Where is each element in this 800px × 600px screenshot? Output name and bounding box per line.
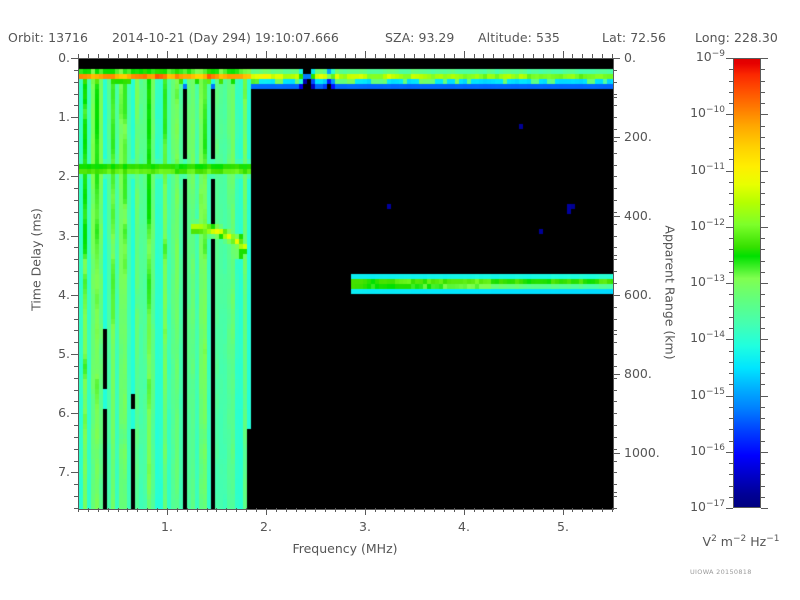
x-tick-minor-top [444,54,445,58]
x-tick-label: 3. [354,519,376,534]
colorbar-tick-minor [761,294,765,295]
y-tick-major-left [71,472,78,473]
header-item-value: 228.30 [734,30,778,45]
colorbar-tick-major [726,227,733,228]
x-tick-label: 2. [255,519,277,534]
y-tick-minor-right-side [613,105,617,106]
x-tick-minor-top [483,54,484,58]
header-item-1: 2014-10-21 (Day 294) 19:10:07.666 [112,30,339,45]
x-tick-minor [296,508,297,512]
y-tick-minor-right-side [613,247,617,248]
y-tick-minor-left [74,437,78,438]
x-tick-minor [385,508,386,512]
x-tick-major [563,508,564,515]
colorbar-tick-minor [761,373,765,374]
y-tick-minor-left [74,224,78,225]
y-tick-label-left: 1. [32,109,70,124]
colorbar-tick-major [726,58,733,59]
colorbar-tick-minor [729,137,733,138]
y-tick-minor-right-side [613,141,617,142]
x-tick-minor [592,508,593,512]
x-tick-minor-top [305,54,306,58]
y-tick-major-left [71,354,78,355]
y-tick-label-right: 0. [624,50,636,65]
y-tick-major-right [613,216,620,217]
y-tick-minor-right-side [613,390,617,391]
x-tick-minor [305,508,306,512]
colorbar-tick-minor [729,497,733,498]
colorbar-tick-minor [761,69,765,70]
y-tick-minor-left [74,200,78,201]
x-tick-minor-top [434,54,435,58]
ionogram-heatmap-canvas [79,59,613,509]
colorbar-tick-minor [729,373,733,374]
x-tick-major-top [464,51,465,58]
y-tick-minor-right-side [613,461,617,462]
colorbar-tick-label: 10−13 [655,274,725,289]
y-tick-minor-right-side [613,165,617,166]
header-item-label: Lat: [602,30,630,45]
x-tick-minor [276,508,277,512]
header-item-value: 2014-10-21 (Day 294) 19:10:07.666 [112,30,339,45]
y-tick-minor-right-side [613,319,617,320]
x-tick-minor [108,508,109,512]
y-tick-major-left [71,176,78,177]
x-tick-minor [434,508,435,512]
y-tick-minor-right [613,334,617,335]
colorbar-tick-major [726,452,733,453]
x-tick-minor-top [108,54,109,58]
y-tick-minor-left [74,319,78,320]
colorbar-tick-minor [729,182,733,183]
colorbar-tick-label: 10−16 [655,443,725,458]
colorbar-tick-minor [761,272,765,273]
x-tick-minor-top [602,54,603,58]
y-tick-minor-left [74,153,78,154]
x-tick-minor-top [157,54,158,58]
x-tick-minor [493,508,494,512]
y-tick-minor-right-side [613,212,617,213]
x-tick-minor [444,508,445,512]
x-tick-minor [572,508,573,512]
colorbar-tick-minor [729,103,733,104]
x-tick-major-top [365,51,366,58]
x-tick-major-top [266,51,267,58]
y-tick-minor-left [74,259,78,260]
x-tick-minor-top [256,54,257,58]
y-tick-major-left [71,58,78,59]
x-tick-minor-top [286,54,287,58]
y-tick-minor-left [74,449,78,450]
colorbar-tick-minor [761,317,765,318]
colorbar-tick-minor [761,193,765,194]
y-axis-title-left: Time Delay (ms) [29,200,44,320]
colorbar-tick-minor [729,81,733,82]
colorbar-tick-minor [761,407,765,408]
colorbar-tick-minor [761,351,765,352]
y-tick-major-right [613,58,620,59]
colorbar-tick-minor [729,384,733,385]
y-tick-label-right: 600. [624,287,652,302]
y-tick-major-left [71,413,78,414]
x-tick-minor [256,508,257,512]
x-tick-minor [375,508,376,512]
x-tick-minor-top [118,54,119,58]
x-tick-minor [503,508,504,512]
colorbar-tick-minor [729,407,733,408]
y-tick-minor-left [74,247,78,248]
x-tick-minor-top [493,54,494,58]
x-tick-minor-top [375,54,376,58]
x-tick-minor-top [88,54,89,58]
colorbar-tick-minor [729,204,733,205]
y-tick-minor-right-side [613,342,617,343]
y-tick-minor-right-side [613,307,617,308]
colorbar-tick-minor [729,328,733,329]
x-tick-minor [216,508,217,512]
y-tick-label-left: 7. [32,464,70,479]
x-tick-major [365,508,366,515]
header-item-value: 13716 [48,30,88,45]
header-item-label: Long: [695,30,734,45]
x-tick-minor [394,508,395,512]
y-tick-major-left [71,295,78,296]
y-tick-major-right [613,295,620,296]
x-tick-minor-top [236,54,237,58]
colorbar-tick-minor [729,418,733,419]
colorbar-tick-major [761,283,768,284]
x-tick-minor [424,508,425,512]
colorbar-tick-minor [729,272,733,273]
y-tick-minor-left [74,330,78,331]
colorbar-tick-major [761,227,768,228]
colorbar-tick-minor [729,294,733,295]
colorbar-tick-major [726,339,733,340]
colorbar-tick-major [726,508,733,509]
y-tick-minor-left [74,508,78,509]
x-tick-minor-top [592,54,593,58]
header-item-value: 72.56 [630,30,666,45]
x-tick-minor [98,508,99,512]
colorbar-tick-minor [729,362,733,363]
y-tick-minor-left [74,342,78,343]
colorbar-tick-minor [761,418,765,419]
x-tick-minor-top [177,54,178,58]
y-tick-minor-right-side [613,188,617,189]
x-tick-minor [286,508,287,512]
colorbar-tick-minor [729,148,733,149]
x-tick-minor-top [147,54,148,58]
y-tick-minor-left [74,188,78,189]
y-tick-minor-right [613,97,617,98]
y-tick-minor-right-side [613,82,617,83]
colorbar-tick-minor [761,182,765,183]
colorbar-tick-minor [729,429,733,430]
x-tick-minor [454,508,455,512]
x-tick-minor-top [533,54,534,58]
x-tick-minor [553,508,554,512]
y-tick-minor-right [613,176,617,177]
colorbar-tick-minor [761,148,765,149]
x-tick-minor [207,508,208,512]
y-tick-minor-right-side [613,437,617,438]
y-tick-minor-left [74,484,78,485]
y-tick-minor-right-side [613,496,617,497]
x-tick-minor [246,508,247,512]
y-tick-minor-left [74,82,78,83]
y-tick-minor-right-side [613,449,617,450]
colorbar-tick-major [761,171,768,172]
colorbar-tick-label: 10−17 [655,499,725,514]
x-tick-minor-top [414,54,415,58]
y-tick-major-right [613,374,620,375]
header-info-bar: Orbit: 137162014-10-21 (Day 294) 19:10:0… [0,30,800,48]
colorbar-tick-minor [761,204,765,205]
x-tick-major-top [563,51,564,58]
colorbar [733,58,761,508]
colorbar-tick-minor [761,429,765,430]
x-tick-minor [137,508,138,512]
colorbar-tick-minor [761,216,765,217]
x-tick-minor [236,508,237,512]
y-tick-minor-right [613,413,617,414]
y-tick-minor-left [74,165,78,166]
x-tick-minor [315,508,316,512]
x-tick-minor-top [246,54,247,58]
y-tick-minor-left [74,496,78,497]
y-tick-minor-left [74,307,78,308]
header-item-5: Long: 228.30 [695,30,778,45]
header-item-label: Orbit: [8,30,48,45]
x-tick-minor [118,508,119,512]
colorbar-tick-minor [761,81,765,82]
y-tick-minor-right-side [613,484,617,485]
y-tick-minor-left [74,401,78,402]
colorbar-tick-minor [729,441,733,442]
x-tick-minor [325,508,326,512]
x-tick-minor-top [98,54,99,58]
x-tick-minor-top [127,54,128,58]
y-tick-minor-left [74,94,78,95]
colorbar-tick-label: 10−9 [655,49,725,64]
colorbar-tick-minor [761,328,765,329]
colorbar-tick-minor [761,249,765,250]
colorbar-tick-minor [761,486,765,487]
colorbar-tick-minor [729,261,733,262]
x-tick-minor-top [582,54,583,58]
spectrogram-plot-area [78,58,614,510]
y-tick-minor-left [74,366,78,367]
colorbar-tick-minor [729,463,733,464]
y-tick-minor-right-side [613,508,617,509]
y-tick-minor-left [74,212,78,213]
colorbar-tick-major [761,58,768,59]
x-tick-label: 1. [156,519,178,534]
x-tick-minor-top [197,54,198,58]
colorbar-tick-minor [761,103,765,104]
x-tick-minor [582,508,583,512]
y-tick-label-left: 2. [32,168,70,183]
y-tick-label-left: 5. [32,346,70,361]
x-tick-minor [474,508,475,512]
y-tick-minor-right-side [613,117,617,118]
colorbar-tick-major [726,283,733,284]
colorbar-tick-major [726,396,733,397]
colorbar-gradient [733,58,761,508]
colorbar-tick-minor [729,474,733,475]
y-tick-minor-right-side [613,129,617,130]
colorbar-tick-major [761,339,768,340]
y-tick-minor-right-side [613,200,617,201]
x-tick-minor-top [137,54,138,58]
colorbar-tick-label: 10−10 [655,105,725,120]
colorbar-tick-minor [729,486,733,487]
x-tick-major [167,508,168,515]
colorbar-tick-major [726,171,733,172]
x-tick-minor-top [572,54,573,58]
colorbar-tick-label: 10−14 [655,330,725,345]
x-tick-minor-top [296,54,297,58]
colorbar-tick-major [761,396,768,397]
colorbar-tick-minor [761,137,765,138]
x-tick-minor-top [355,54,356,58]
x-tick-minor-top [226,54,227,58]
x-tick-minor-top [325,54,326,58]
y-tick-minor-left [74,271,78,272]
colorbar-tick-minor [729,92,733,93]
colorbar-tick-major [726,114,733,115]
x-tick-minor-top [543,54,544,58]
colorbar-tick-minor [729,249,733,250]
header-item-4: Lat: 72.56 [602,30,666,45]
x-tick-minor [355,508,356,512]
y-tick-label-right: 800. [624,366,652,381]
y-tick-major-right [613,137,620,138]
y-tick-minor-left [74,129,78,130]
x-tick-minor [602,508,603,512]
y-tick-minor-right [613,492,617,493]
x-tick-minor [78,508,79,512]
x-tick-minor-top [404,54,405,58]
y-tick-major-left [71,236,78,237]
y-tick-minor-right-side [613,425,617,426]
colorbar-tick-minor [761,238,765,239]
credit-text: UIOWA 20150818 [690,568,752,576]
y-tick-label-left: 6. [32,405,70,420]
colorbar-tick-minor [761,441,765,442]
y-tick-minor-right-side [613,259,617,260]
x-tick-minor-top [454,54,455,58]
colorbar-tick-minor [761,306,765,307]
x-tick-minor [197,508,198,512]
x-tick-minor [127,508,128,512]
colorbar-tick-minor [761,463,765,464]
header-item-label: Altitude: [478,30,536,45]
x-tick-minor [177,508,178,512]
y-tick-minor-right-side [613,366,617,367]
colorbar-tick-minor [729,69,733,70]
y-tick-minor-left [74,461,78,462]
colorbar-tick-minor [729,126,733,127]
x-tick-minor-top [513,54,514,58]
y-tick-minor-right-side [613,224,617,225]
x-tick-minor-top [523,54,524,58]
y-tick-label-right: 400. [624,208,652,223]
colorbar-tick-minor [761,92,765,93]
x-tick-minor [187,508,188,512]
x-tick-major-top [167,51,168,58]
colorbar-tick-minor [761,384,765,385]
y-tick-minor-right-side [613,94,617,95]
x-tick-minor-top [345,54,346,58]
colorbar-tick-minor [729,193,733,194]
colorbar-tick-minor [729,351,733,352]
colorbar-tick-minor [729,306,733,307]
x-axis-title: Frequency (MHz) [78,541,612,556]
header-item-3: Altitude: 535 [478,30,560,45]
colorbar-tick-minor [761,474,765,475]
x-tick-minor-top [207,54,208,58]
colorbar-unit-label: V2 m−2 Hz−1 [686,534,796,549]
x-tick-minor [533,508,534,512]
colorbar-tick-label: 10−12 [655,218,725,233]
x-tick-minor-top [315,54,316,58]
colorbar-tick-minor [761,126,765,127]
y-tick-minor-left [74,425,78,426]
y-tick-major-left [71,117,78,118]
y-tick-major-right [613,453,620,454]
x-tick-minor [404,508,405,512]
x-tick-minor [513,508,514,512]
colorbar-tick-minor [729,159,733,160]
x-tick-minor-top [503,54,504,58]
x-tick-minor [335,508,336,512]
y-tick-minor-right-side [613,472,617,473]
colorbar-tick-label: 10−15 [655,387,725,402]
x-tick-minor-top [394,54,395,58]
x-tick-minor [147,508,148,512]
colorbar-tick-label: 10−11 [655,162,725,177]
colorbar-tick-minor [729,238,733,239]
y-tick-minor-left [74,283,78,284]
y-tick-minor-right-side [613,354,617,355]
y-tick-minor-left [74,70,78,71]
x-tick-minor-top [276,54,277,58]
y-tick-minor-left [74,141,78,142]
y-tick-minor-right-side [613,271,617,272]
x-tick-major [266,508,267,515]
y-tick-minor-right-side [613,283,617,284]
x-tick-minor [345,508,346,512]
header-item-label: SZA: [385,30,419,45]
y-tick-minor-left [74,105,78,106]
x-tick-minor-top [553,54,554,58]
x-tick-label: 5. [552,519,574,534]
x-tick-minor [88,508,89,512]
colorbar-tick-major [761,452,768,453]
y-tick-minor-right [613,255,617,256]
colorbar-tick-major [761,114,768,115]
x-tick-minor-top [335,54,336,58]
colorbar-tick-minor [729,216,733,217]
header-item-value: 535 [536,30,560,45]
x-tick-minor [414,508,415,512]
y-tick-label-left: 0. [32,50,70,65]
x-tick-minor [226,508,227,512]
y-tick-minor-right-side [613,236,617,237]
y-tick-minor-right-side [613,70,617,71]
x-tick-minor-top [424,54,425,58]
